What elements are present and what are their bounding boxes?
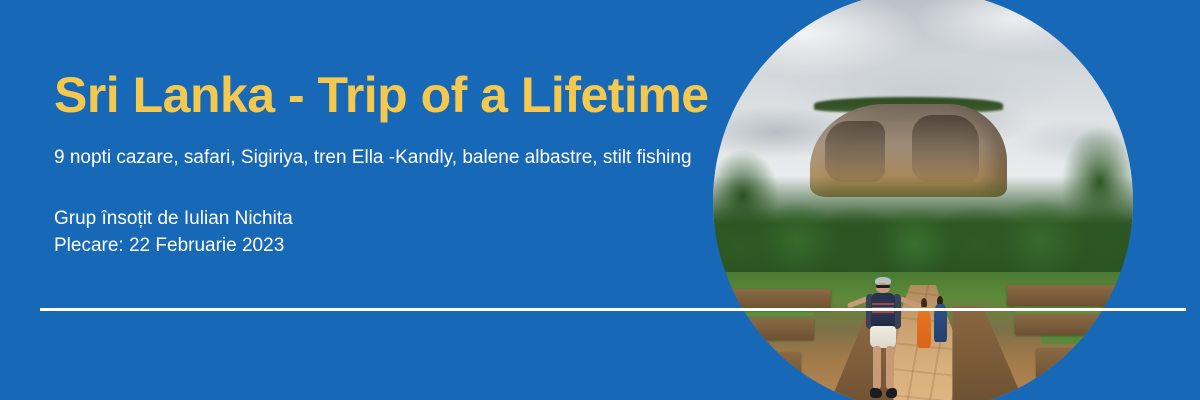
traveler-right-shoe (886, 388, 898, 397)
terrace-wall (1036, 348, 1128, 382)
banner-text-block: Sri Lanka - Trip of a Lifetime 9 nopti c… (54, 0, 734, 400)
guide-line: Grup însoțit de Iulian Nichita (54, 205, 293, 232)
traveler-shorts (870, 326, 895, 348)
terrace-wall (1015, 314, 1116, 335)
traveler-left-shoe (870, 388, 882, 397)
traveler-figure (841, 277, 925, 400)
banner-subtitle: 9 nopti cazare, safari, Sigiriya, tren E… (54, 145, 704, 171)
traveler-left-leg (873, 346, 881, 389)
tree-right (1049, 117, 1133, 243)
terrace-wall (721, 319, 813, 340)
sunglasses-icon (876, 285, 889, 288)
traveler-head (876, 283, 889, 294)
traveler-right-leg (886, 346, 894, 389)
departure-line: Plecare: 22 Februarie 2023 (54, 232, 293, 259)
terrace-wall (1007, 285, 1125, 306)
banner-title: Sri Lanka - Trip of a Lifetime (54, 68, 709, 123)
sigiriya-photo-circle (713, 0, 1133, 400)
photo-scene (713, 0, 1133, 400)
banner-meta: Grup însoțit de Iulian Nichita Plecare: … (54, 205, 293, 259)
horizontal-divider (40, 308, 1186, 311)
distant-figure-visitor (934, 296, 947, 342)
travel-promo-banner: Sri Lanka - Trip of a Lifetime 9 nopti c… (0, 0, 1200, 400)
